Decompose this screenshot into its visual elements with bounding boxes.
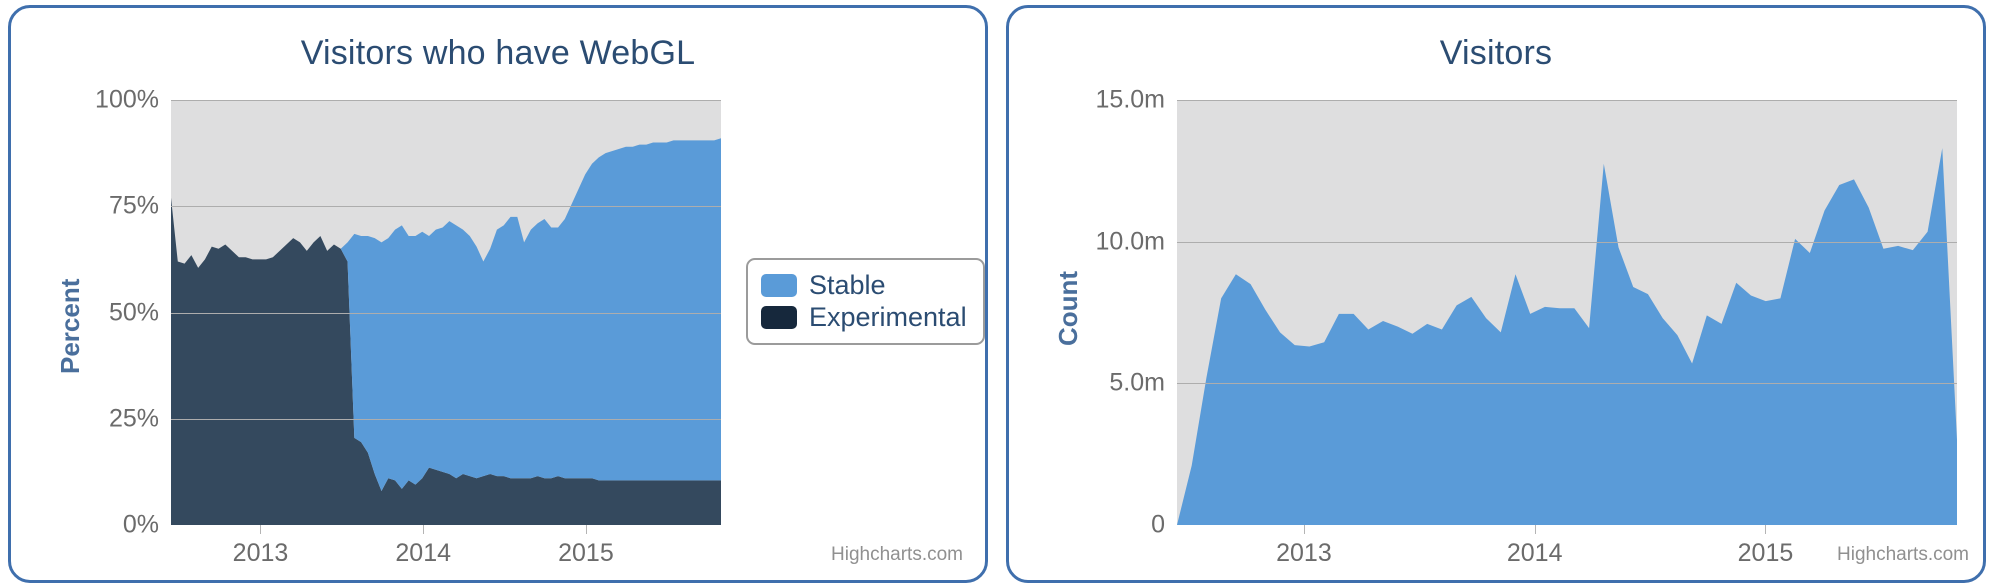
- y-axis-tick-label: 50%: [21, 298, 159, 327]
- y-axis-tick-label: 15.0m: [1027, 86, 1165, 115]
- area-series-group-visitors: [1177, 100, 1957, 525]
- x-axis-tick-mark: [1535, 525, 1536, 534]
- y-axis-tick-label: 25%: [21, 404, 159, 433]
- x-axis-tick-mark: [586, 525, 587, 534]
- x-axis-tick-label: 2014: [395, 539, 451, 568]
- y-axis-title-visitors: Count: [1053, 270, 1084, 345]
- x-axis-tick-label: 2015: [1738, 539, 1794, 568]
- y-axis-tick-label: 100%: [21, 86, 159, 115]
- plot-wrapper-webgl: 0%25%50%75%100% 201320142015: [171, 100, 721, 525]
- gridline: [171, 419, 721, 420]
- x-axis-tick-mark: [1304, 525, 1305, 534]
- gridline: [1177, 242, 1957, 243]
- gridline: [1177, 383, 1957, 384]
- page-title: Visitors who have WebGL: [11, 34, 985, 73]
- y-axis-tick-label: 0%: [21, 511, 159, 540]
- legend-swatch-icon: [761, 274, 797, 297]
- legend-item-label: Experimental: [809, 302, 967, 333]
- y-axis-tick-label: 10.0m: [1027, 227, 1165, 256]
- x-axis-tick-label: 2015: [558, 539, 614, 568]
- legend-item-label: Stable: [809, 270, 886, 301]
- chart-legend[interactable]: StableExperimental: [746, 258, 985, 345]
- y-axis-tick-label: 5.0m: [1027, 369, 1165, 398]
- x-axis-tick-label: 2013: [233, 539, 289, 568]
- legend-swatch-icon: [761, 306, 797, 329]
- x-axis-tick-label: 2014: [1507, 539, 1563, 568]
- plot-area-visitors: [1177, 100, 1957, 525]
- page-title-visitors: Visitors: [1009, 34, 1983, 73]
- gridline: [171, 100, 721, 101]
- credits-label-visitors[interactable]: Highcharts.com: [1837, 544, 1969, 566]
- y-axis-tick-label: 75%: [21, 192, 159, 221]
- area-series-visitors[interactable]: [1177, 148, 1957, 525]
- gridline: [171, 313, 721, 314]
- legend-item-stable[interactable]: Stable: [761, 269, 967, 301]
- x-axis-tick-mark: [260, 525, 261, 534]
- gridline: [1177, 100, 1957, 101]
- credits-label[interactable]: Highcharts.com: [831, 544, 963, 566]
- x-axis-tick-mark: [1765, 525, 1766, 534]
- webgl-chart-panel: Visitors who have WebGL Percent 0%25%50%…: [8, 5, 988, 583]
- legend-item-experimental[interactable]: Experimental: [761, 301, 967, 333]
- plot-wrapper-visitors: 05.0m10.0m15.0m 201320142015: [1177, 100, 1957, 525]
- x-axis-tick-mark: [423, 525, 424, 534]
- gridline: [171, 206, 721, 207]
- x-axis-tick-label: 2013: [1276, 539, 1332, 568]
- y-axis-tick-label: 0: [1027, 511, 1165, 540]
- dashboard: Visitors who have WebGL Percent 0%25%50%…: [0, 0, 1996, 588]
- visitors-chart-panel: Visitors Count 05.0m10.0m15.0m 201320142…: [1006, 5, 1986, 583]
